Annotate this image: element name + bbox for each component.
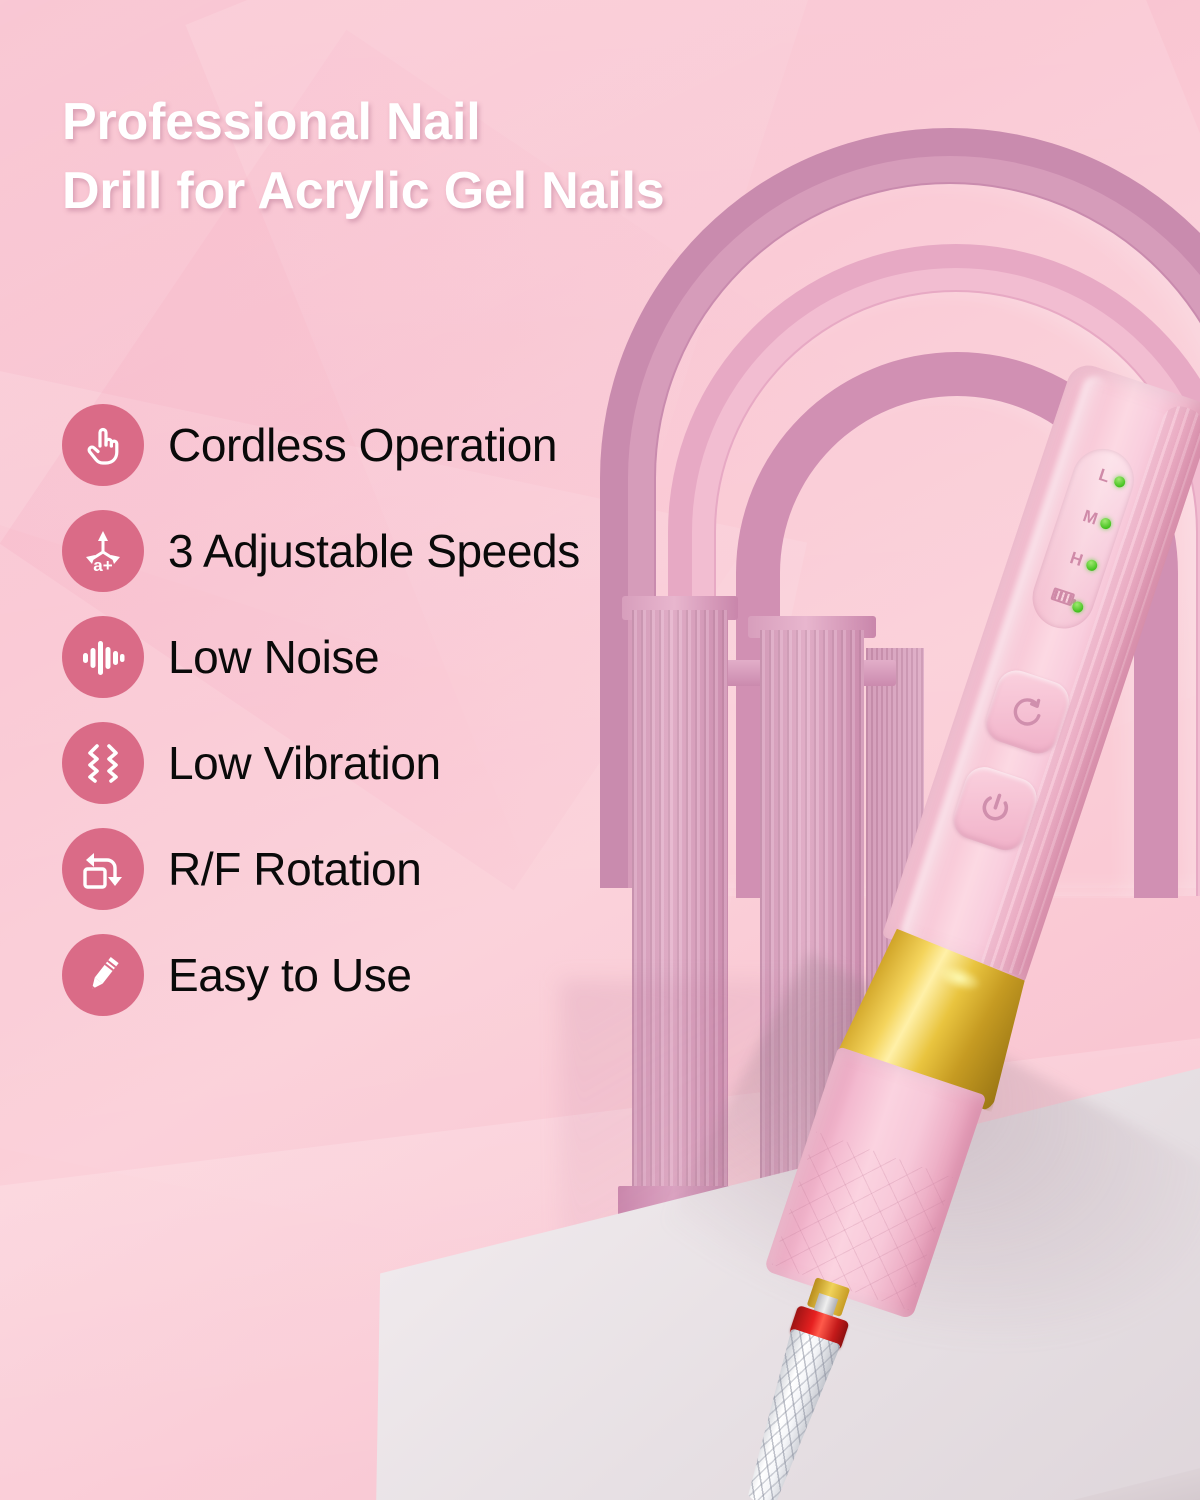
- speed-label-medium: M: [1058, 499, 1122, 535]
- feature-list: Cordless Operation a+ 3 Adjustable Speed…: [62, 392, 822, 1028]
- vibration-icon: [62, 722, 144, 804]
- feature-item-low-vibration: Low Vibration: [62, 710, 822, 816]
- feature-label: Easy to Use: [168, 948, 412, 1002]
- feature-item-easy-to-use: Easy to Use: [62, 922, 822, 1028]
- feature-item-rf-rotation: R/F Rotation: [62, 816, 822, 922]
- rotation-icon: [62, 828, 144, 910]
- feature-label: R/F Rotation: [168, 842, 421, 896]
- adjustable-speed-icon: a+: [62, 510, 144, 592]
- feature-label: Low Noise: [168, 630, 379, 684]
- svg-text:a+: a+: [93, 556, 112, 575]
- battery-icon: [1050, 587, 1075, 606]
- product-feature-graphic: L M H: [0, 0, 1200, 1500]
- feature-item-cordless-operation: Cordless Operation: [62, 392, 822, 498]
- pencil-icon: [62, 934, 144, 1016]
- feature-item-adjustable-speeds: a+ 3 Adjustable Speeds: [62, 498, 822, 604]
- feature-label: Cordless Operation: [168, 418, 557, 472]
- feature-label: Low Vibration: [168, 736, 441, 790]
- touch-hand-icon: [62, 404, 144, 486]
- feature-item-low-noise: Low Noise: [62, 604, 822, 710]
- headline-line-2: Drill for Acrylic Gel Nails: [62, 157, 962, 226]
- page-title: Professional Nail Drill for Acrylic Gel …: [62, 88, 962, 225]
- speed-label-high: H: [1044, 541, 1108, 577]
- feature-label: 3 Adjustable Speeds: [168, 524, 580, 578]
- headline-line-1: Professional Nail: [62, 88, 962, 157]
- sound-wave-icon: [62, 616, 144, 698]
- speed-label-low: L: [1072, 458, 1136, 494]
- led-indicator-battery: [1071, 600, 1085, 614]
